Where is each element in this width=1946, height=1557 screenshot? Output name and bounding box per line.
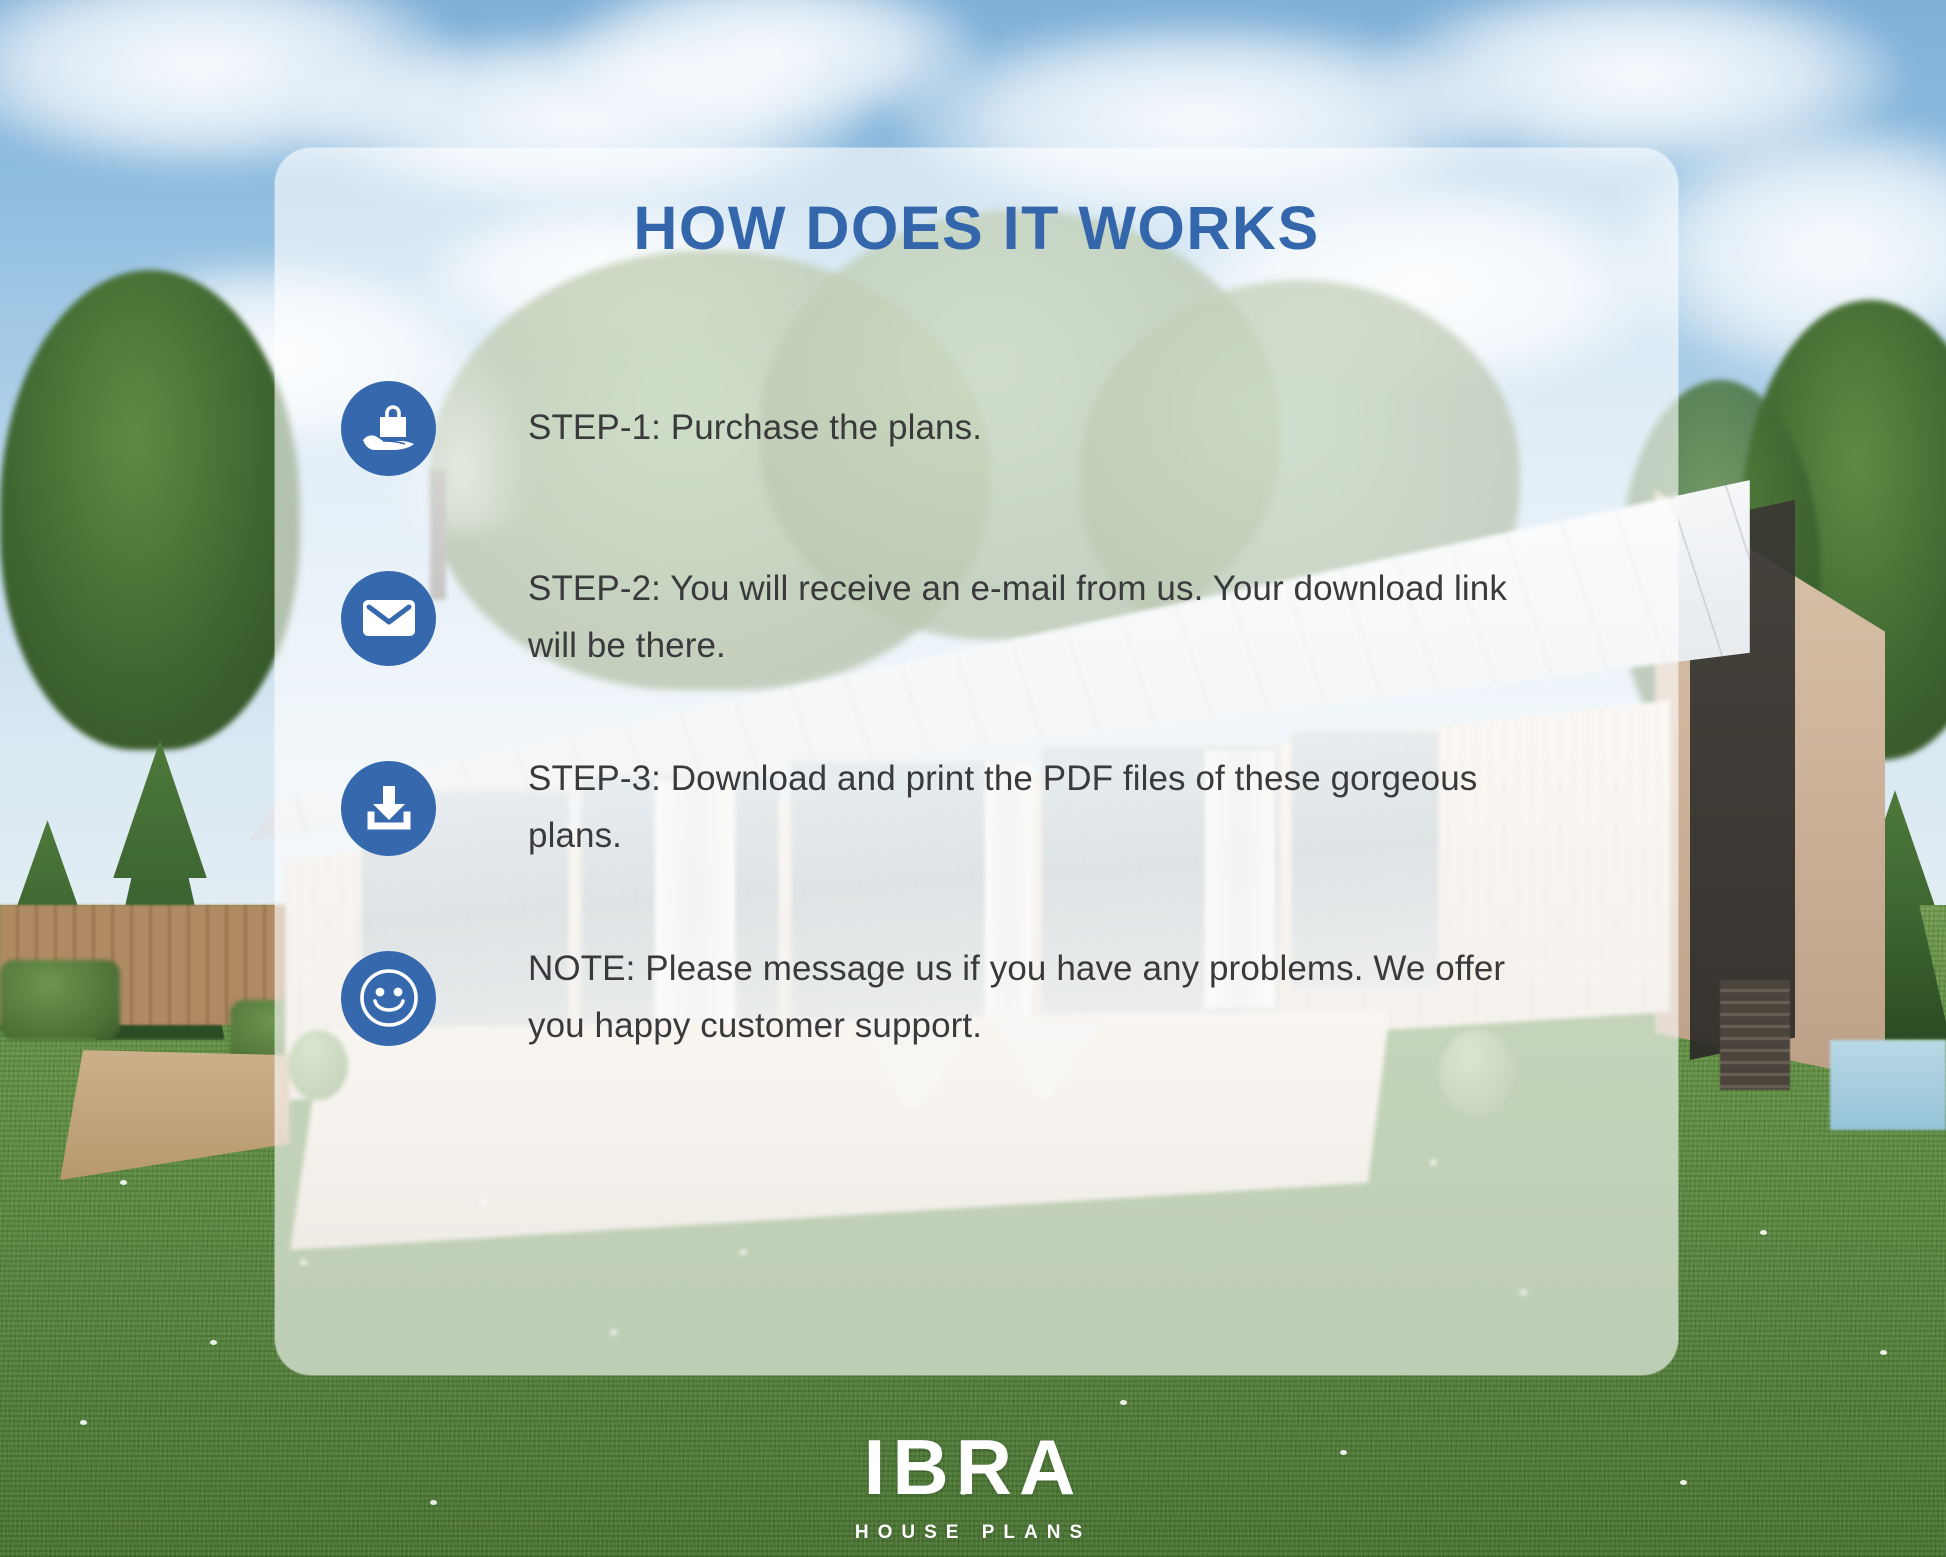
poster-canvas: HOW DOES IT WORKS STEP-1: Purchase the p…	[0, 0, 1946, 1557]
envelope-icon	[341, 571, 436, 666]
lawn-flower	[1760, 1230, 1767, 1235]
lawn-flower	[80, 1420, 87, 1425]
lawn-flower	[1120, 1400, 1127, 1405]
list-item: NOTE: Please message us if you have any …	[275, 903, 1678, 1093]
step-description: STEP-3: Download and print the PDF files…	[528, 751, 1528, 864]
page-title: HOW DOES IT WORKS	[275, 193, 1678, 263]
steps-list: STEP-1: Purchase the plans. STEP-2: You …	[275, 333, 1678, 1093]
note-description: NOTE: Please message us if you have any …	[528, 941, 1528, 1054]
hedge	[0, 960, 120, 1040]
stacked-logs	[1720, 980, 1790, 1090]
lawn-flower	[1880, 1350, 1887, 1355]
lawn-flower	[210, 1340, 217, 1345]
step-description: STEP-2: You will receive an e-mail from …	[528, 561, 1528, 674]
list-item: STEP-3: Download and print the PDF files…	[275, 713, 1678, 903]
lawn-flower	[120, 1180, 127, 1185]
download-icon	[341, 761, 436, 856]
shopping-bag-in-hand-icon	[341, 381, 436, 476]
smiley-face-icon	[341, 951, 436, 1046]
logo-wordmark: IBRA	[0, 1428, 1946, 1506]
how-it-works-panel: HOW DOES IT WORKS STEP-1: Purchase the p…	[275, 148, 1678, 1375]
step-description: STEP-1: Purchase the plans.	[528, 400, 982, 457]
tree	[0, 270, 300, 750]
list-item: STEP-1: Purchase the plans.	[275, 333, 1678, 523]
brand-logo: IBRA HOUSE PLANS	[0, 1428, 1946, 1544]
logo-tagline: HOUSE PLANS	[0, 1522, 1946, 1544]
list-item: STEP-2: You will receive an e-mail from …	[275, 523, 1678, 713]
pool-edge	[1830, 1040, 1946, 1130]
